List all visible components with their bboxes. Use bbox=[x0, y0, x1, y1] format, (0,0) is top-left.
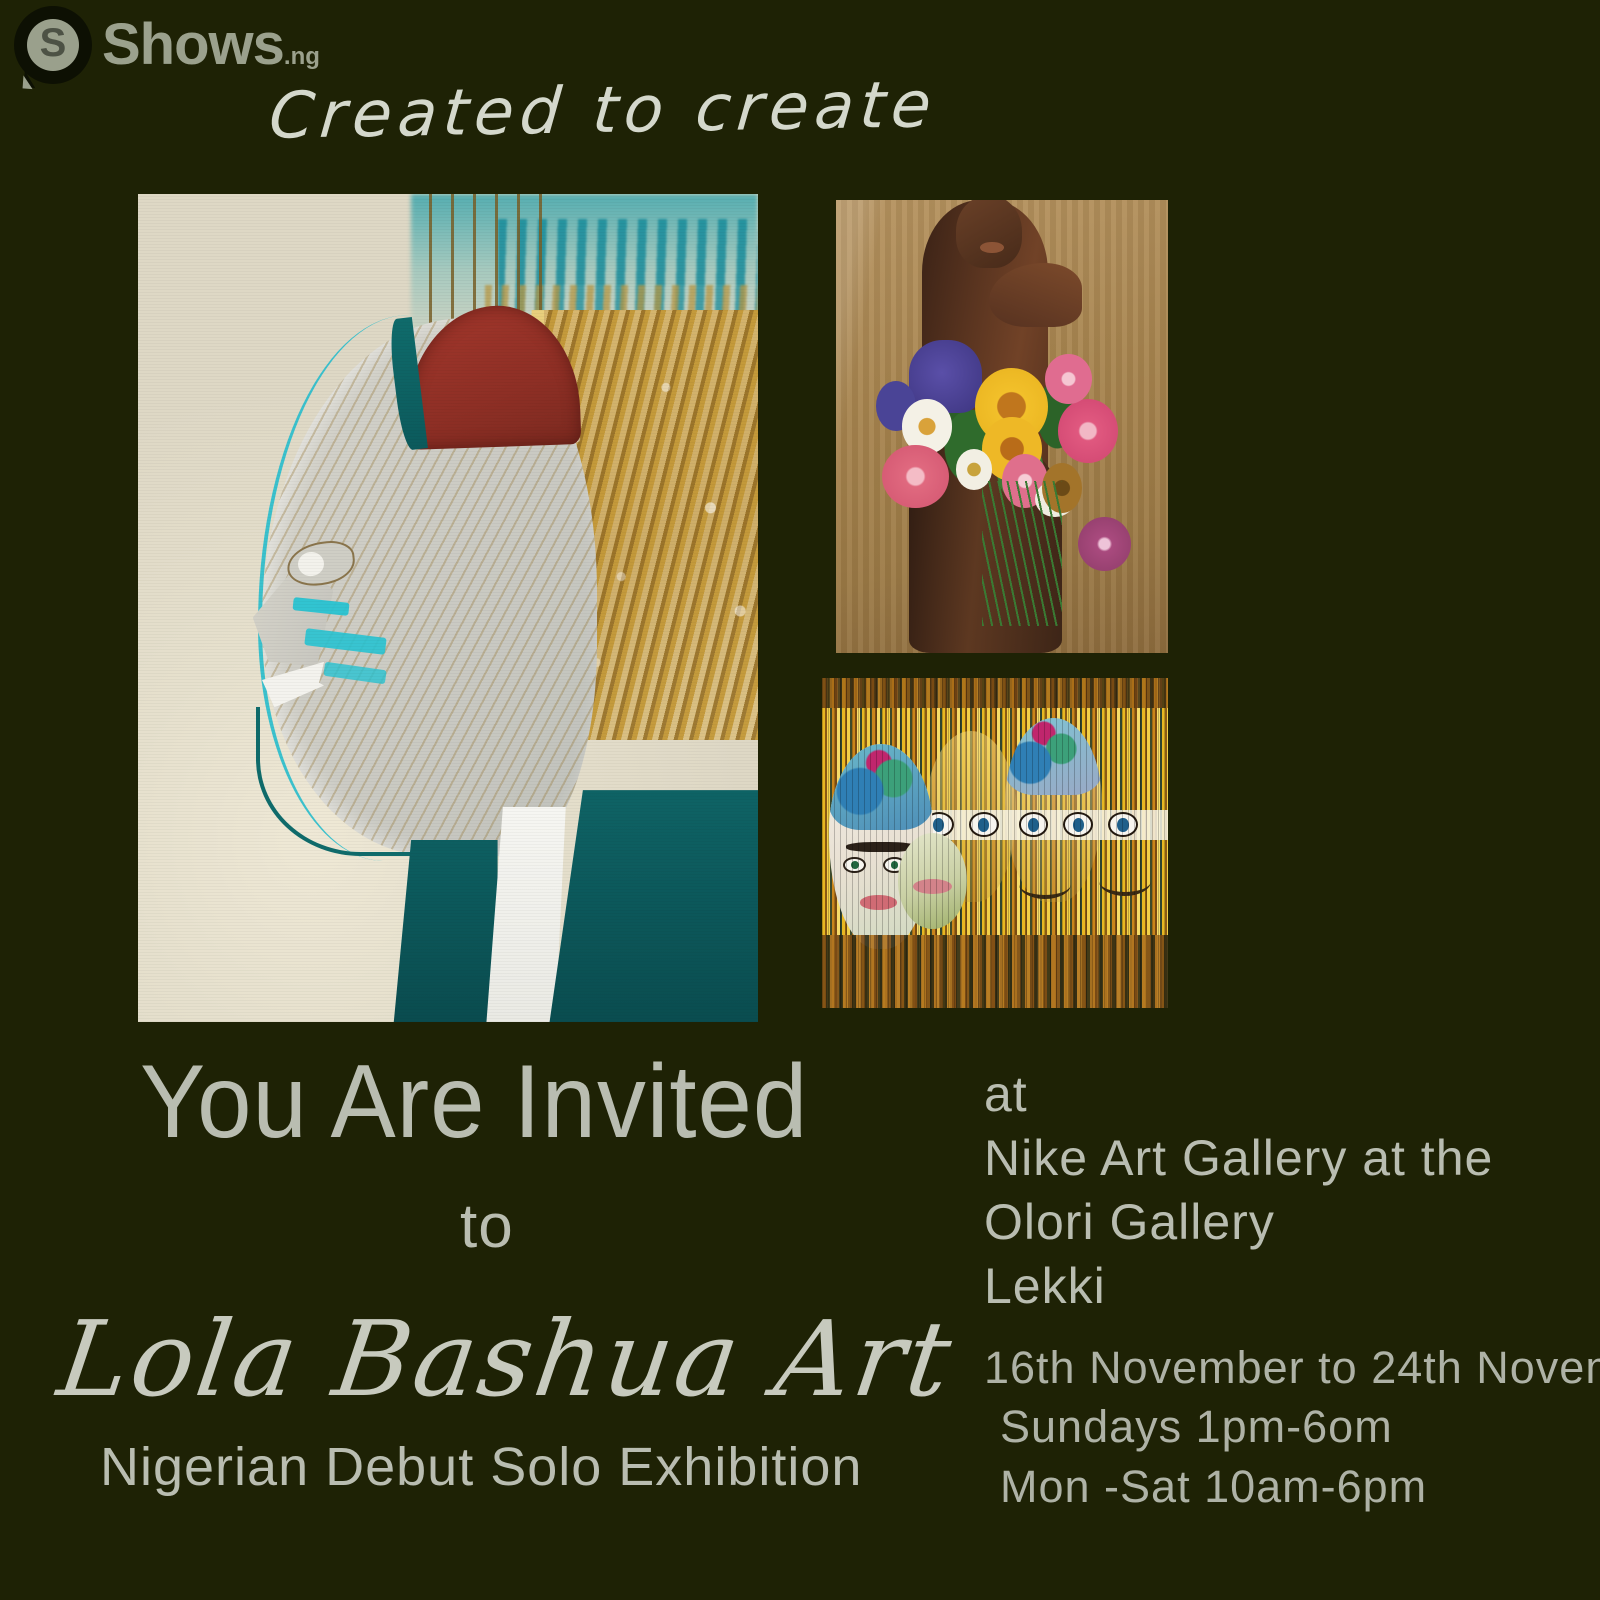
artwork-profile-face bbox=[138, 194, 758, 1022]
flower-pink-left bbox=[882, 445, 948, 508]
schedule-dates: 16th November to 24th November bbox=[984, 1338, 1600, 1397]
bouquet-stems bbox=[982, 481, 1062, 626]
schedule-block: 16th November to 24th November Sundays 1… bbox=[984, 1338, 1600, 1516]
tagline: Created to create bbox=[266, 68, 940, 154]
canvas-grain bbox=[138, 194, 758, 1022]
flower-pink-right-upper bbox=[1045, 354, 1091, 404]
speech-bubble-logo-icon: S bbox=[14, 6, 92, 84]
figure-head bbox=[956, 200, 1022, 268]
exhibition-poster: S Shows.ng Created to create bbox=[0, 0, 1600, 1600]
figure-lips bbox=[980, 242, 1003, 253]
page-title: You Are Invited bbox=[140, 1050, 808, 1154]
schedule-weekdays: Mon -Sat 10am-6pm bbox=[984, 1457, 1600, 1516]
artist-name: Lola Bashua Art bbox=[51, 1298, 961, 1420]
stripe-overlay bbox=[822, 678, 1168, 1008]
brand-wordmark: Shows.ng bbox=[102, 16, 320, 74]
logo-letter: S bbox=[14, 6, 92, 84]
venue-block: at Nike Art Gallery at the Olori Gallery… bbox=[984, 1062, 1493, 1318]
schedule-sundays: Sundays 1pm-6om bbox=[984, 1397, 1600, 1456]
venue-line-3: Lekki bbox=[984, 1254, 1493, 1318]
venue-preposition: at bbox=[984, 1062, 1493, 1126]
exhibition-subtitle: Nigerian Debut Solo Exhibition bbox=[100, 1440, 862, 1494]
venue-line-2: Olori Gallery bbox=[984, 1190, 1493, 1254]
invite-connector: to bbox=[460, 1196, 514, 1258]
artwork-woman-with-bouquet bbox=[836, 200, 1168, 653]
flower-pink-zinnia-right bbox=[1058, 399, 1118, 462]
brand-tld: .ng bbox=[284, 43, 320, 70]
venue-line-1: Nike Art Gallery at the bbox=[984, 1126, 1493, 1190]
brand-logo[interactable]: S Shows.ng bbox=[14, 6, 320, 84]
brand-name: Shows bbox=[102, 12, 284, 77]
artwork-striped-faces bbox=[822, 678, 1168, 1008]
